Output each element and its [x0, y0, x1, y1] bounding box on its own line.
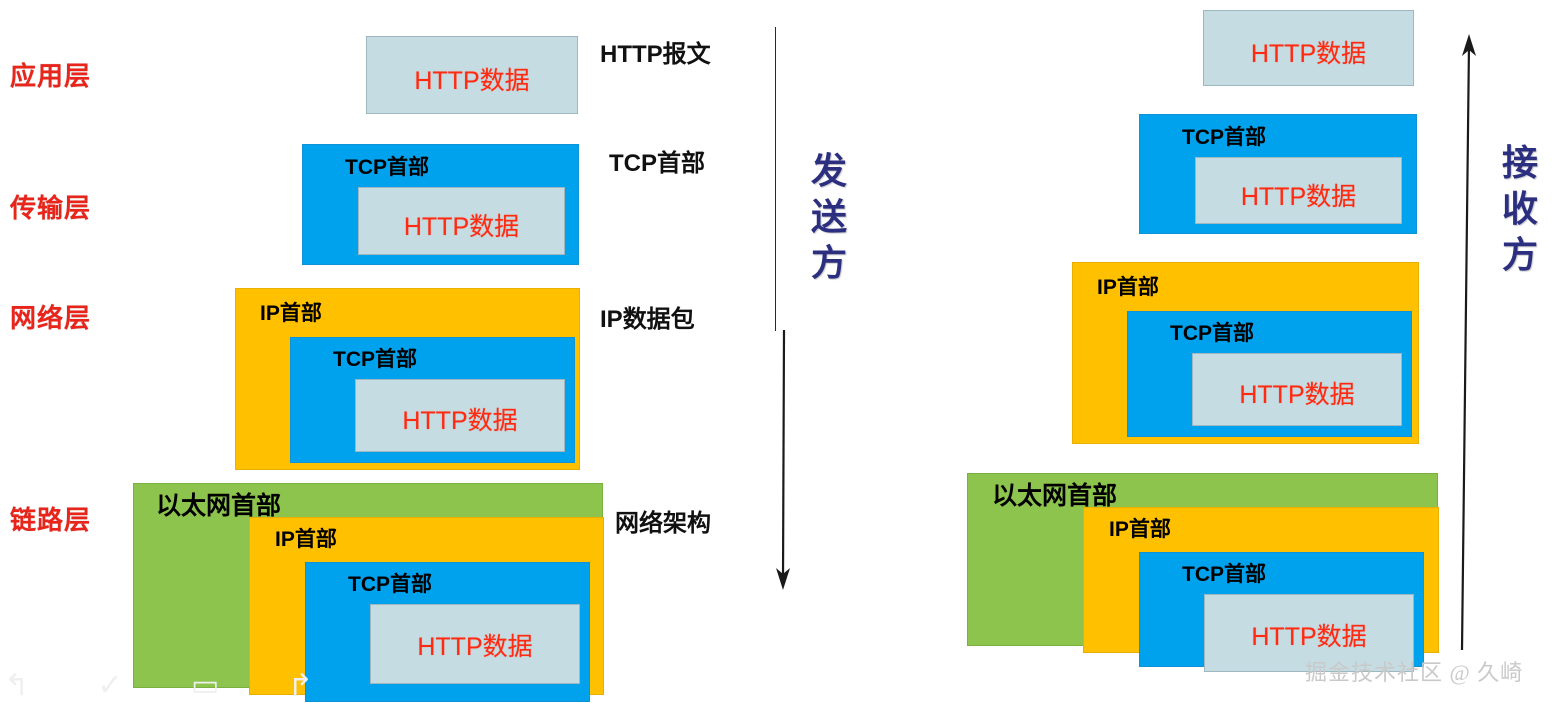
layer-label-application: 应用层 [10, 56, 91, 93]
pdu-label-network-frame: 网络架构 [615, 503, 711, 538]
http-data-text: HTTP数据 [1205, 617, 1413, 653]
layer-label-transport: 传输层 [10, 188, 91, 225]
http-data-text: HTTP数据 [1193, 375, 1401, 411]
watermark: 掘金技术社区 @ 久崎 [1305, 655, 1523, 687]
sender-app-http-box: HTTP数据 [366, 36, 578, 114]
direction-label-receiver: 接收方 [1496, 140, 1544, 278]
receiver-network-ip-box: IP首部 TCP首部 HTTP数据 [1072, 262, 1419, 444]
http-data-latin: HTTP [414, 67, 479, 95]
receiver-network-http-box: HTTP数据 [1192, 353, 1402, 426]
sender-network-http-box: HTTP数据 [355, 379, 565, 452]
http-data-text: HTTP数据 [356, 401, 564, 437]
tcp-header-latin: TCP [345, 156, 387, 179]
ip-header-cjk: 首部 [280, 301, 322, 325]
ip-header-text: IP首部 [260, 303, 322, 324]
arrow-up-icon [1447, 30, 1477, 650]
sender-link-tcp-box: TCP首部 HTTP数据 [305, 562, 590, 702]
sender-link-ethernet-box: 以太网首部 IP首部 TCP首部 HTTP数据 [133, 483, 603, 688]
sender-network-ip-box: IP首部 TCP首部 HTTP数据 [235, 288, 580, 470]
ip-header-text: IP首部 [1097, 277, 1159, 298]
pdu-label-http-message: HTTP报文 [600, 34, 711, 69]
tcp-header-text: TCP首部 [333, 349, 417, 370]
sender-link-http-box: HTTP数据 [370, 604, 580, 684]
receiver-transport-tcp-box: TCP首部 HTTP数据 [1139, 114, 1417, 234]
receiver-link-ip-box: IP首部 TCP首部 HTTP数据 [1083, 507, 1439, 653]
ip-header-text: IP首部 [1109, 519, 1171, 540]
pdu-label-tcp-header: TCP首部 [609, 143, 705, 178]
receiver-app-http-box: HTTP数据 [1203, 10, 1414, 86]
http-data-text: HTTP数据 [359, 207, 564, 243]
receiver-network-tcp-box: TCP首部 HTTP数据 [1127, 311, 1412, 437]
direction-label-sender: 发送方 [805, 148, 853, 286]
tcp-header-cjk: 首部 [387, 155, 429, 179]
receiver-link-ethernet-box: 以太网首部 IP首部 TCP首部 HTTP数据 [967, 473, 1438, 646]
ip-header-text: IP首部 [275, 529, 337, 550]
http-data-text: HTTP数据 [1196, 177, 1401, 213]
ethernet-header-cjk: 以太网首部 [156, 493, 281, 520]
ethernet-header-text: 以太网首部 [992, 484, 1117, 509]
diagram-canvas: 应用层 传输层 网络层 链路层 HTTP数据 TCP首部 HTTP数据 IP首部… [0, 0, 1568, 703]
tcp-header-text: TCP首部 [348, 574, 432, 595]
http-data-text: HTTP数据 [1204, 34, 1413, 70]
layer-label-network: 网络层 [10, 298, 91, 335]
sender-transport-http-box: HTTP数据 [358, 187, 565, 255]
receiver-link-tcp-box: TCP首部 HTTP数据 [1139, 552, 1424, 667]
layer-label-link: 链路层 [10, 500, 91, 537]
tcp-header-text: TCP首部 [1182, 127, 1266, 148]
http-data-text: HTTP数据 [367, 61, 577, 97]
http-data-text: HTTP数据 [371, 627, 579, 663]
arrow-down-icon [768, 330, 798, 595]
sender-transport-tcp-box: TCP首部 HTTP数据 [302, 144, 579, 265]
receiver-transport-http-box: HTTP数据 [1195, 157, 1402, 224]
http-data-cjk: 数据 [480, 68, 530, 95]
tcp-header-text: TCP首部 [345, 157, 429, 178]
faint-toolbar-icons: ↰ ✓ ▭ ↱ [4, 668, 343, 703]
sender-network-tcp-box: TCP首部 HTTP数据 [290, 337, 575, 463]
tcp-header-text: TCP首部 [1182, 564, 1266, 585]
tcp-header-text: TCP首部 [1170, 323, 1254, 344]
ip-header-latin: IP [260, 302, 280, 325]
ethernet-header-text: 以太网首部 [156, 494, 281, 519]
pdu-label-ip-packet: IP数据包 [600, 299, 695, 334]
vertical-divider [775, 27, 776, 331]
